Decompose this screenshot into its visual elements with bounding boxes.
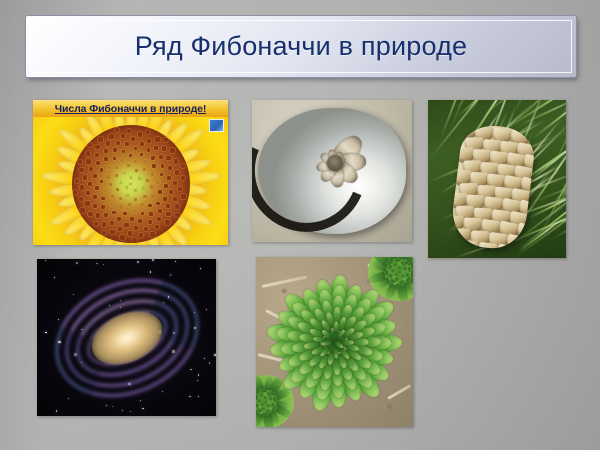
aloe-rosette	[269, 276, 401, 408]
pine-cone-body	[449, 122, 537, 252]
spiral-aloe-photo[interactable]	[256, 257, 413, 427]
sunflower-caption-bar: Числа Фибоначчи в природе!	[33, 100, 228, 117]
pine-cone-photo[interactable]	[428, 100, 566, 258]
sunflower-seed-disc	[72, 125, 190, 243]
nautilus-shell-photo[interactable]	[252, 100, 412, 242]
corner-badge-icon	[209, 119, 224, 132]
sunflower-photo[interactable]: Числа Фибоначчи в природе!	[33, 100, 228, 245]
spiral-galaxy-photo[interactable]	[37, 259, 216, 416]
slide-title-box: Ряд Фибоначчи в природе	[26, 16, 576, 77]
sunflower-caption-text: Числа Фибоначчи в природе!	[55, 103, 207, 115]
presentation-slide: Ряд Фибоначчи в природе Числа Фибоначчи …	[0, 0, 600, 450]
page-title: Ряд Фибоначчи в природе	[135, 33, 468, 60]
